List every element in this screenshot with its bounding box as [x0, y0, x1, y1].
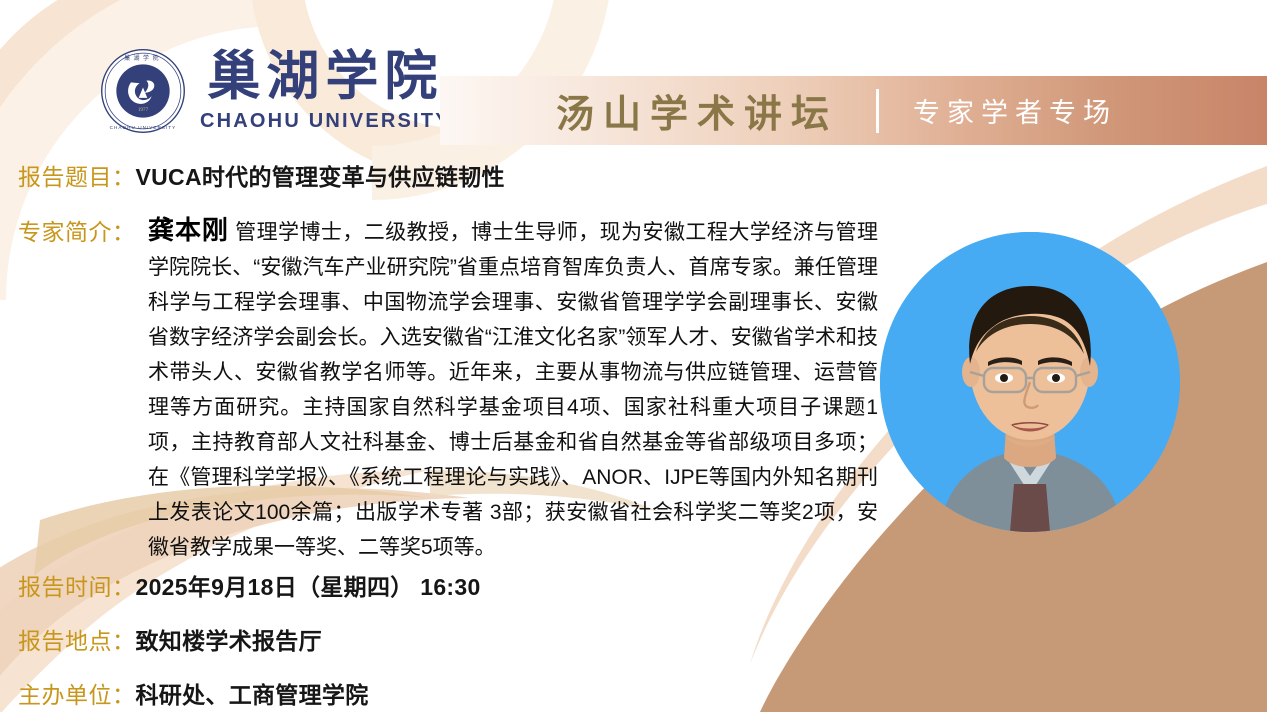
- lecture-title-value: VUCA时代的管理变革与供应链韧性: [136, 158, 505, 192]
- forum-banner: 汤山学术讲坛 专家学者专场: [440, 76, 1267, 145]
- banner-divider: [876, 89, 879, 133]
- speaker-bio-body: 管理学博士，二级教授，博士生导师，现为安徽工程大学经济与管理学院院长、“安徽汽车…: [148, 221, 878, 559]
- speaker-portrait: [880, 232, 1180, 532]
- speaker-photo: [880, 232, 1180, 532]
- university-logo: 1977 巢湖学院 CHAOHU UNIVERSITY 巢湖学院 CHAOHU …: [100, 48, 451, 134]
- lecture-time-row: 报告时间： 2025年9月18日（星期四） 16:30: [18, 568, 481, 602]
- lecture-host-row: 主办单位： 科研处、工商管理学院: [18, 676, 369, 710]
- lecture-place-row: 报告地点： 致知楼学术报告厅: [18, 622, 322, 656]
- forum-title: 汤山学术讲坛: [556, 83, 838, 138]
- lecture-host-value: 科研处、工商管理学院: [136, 676, 369, 710]
- svg-text:巢湖学院: 巢湖学院: [124, 54, 162, 62]
- lecture-title-label: 报告题目：: [18, 158, 136, 192]
- lecture-host-label: 主办单位：: [18, 676, 136, 710]
- lecture-title-row: 报告题目： VUCA时代的管理变革与供应链韧性: [18, 158, 505, 192]
- lecture-poster: 1977 巢湖学院 CHAOHU UNIVERSITY 巢湖学院 CHAOHU …: [0, 0, 1267, 712]
- speaker-name: 龚本刚: [148, 215, 229, 245]
- speaker-bio-text: 龚本刚 管理学博士，二级教授，博士生导师，现为安徽工程大学经济与管理学院院长、“…: [18, 213, 878, 565]
- svg-text:1977: 1977: [138, 107, 149, 113]
- university-name-en: CHAOHU UNIVERSITY: [200, 111, 451, 131]
- forum-subtitle: 专家学者专场: [913, 91, 1117, 130]
- svg-text:CHAOHU UNIVERSITY: CHAOHU UNIVERSITY: [110, 125, 177, 130]
- lecture-place-label: 报告地点：: [18, 622, 136, 656]
- lecture-time-label: 报告时间：: [18, 568, 136, 602]
- speaker-bio-label: 专家简介：: [18, 213, 136, 247]
- university-seal-icon: 1977 巢湖学院 CHAOHU UNIVERSITY: [100, 48, 186, 134]
- speaker-bio-row: 专家简介： 龚本刚 管理学博士，二级教授，博士生导师，现为安徽工程大学经济与管理…: [18, 213, 878, 565]
- university-name-cn: 巢湖学院: [207, 51, 443, 104]
- lecture-time-value: 2025年9月18日（星期四） 16:30: [136, 568, 481, 602]
- lecture-place-value: 致知楼学术报告厅: [136, 622, 322, 656]
